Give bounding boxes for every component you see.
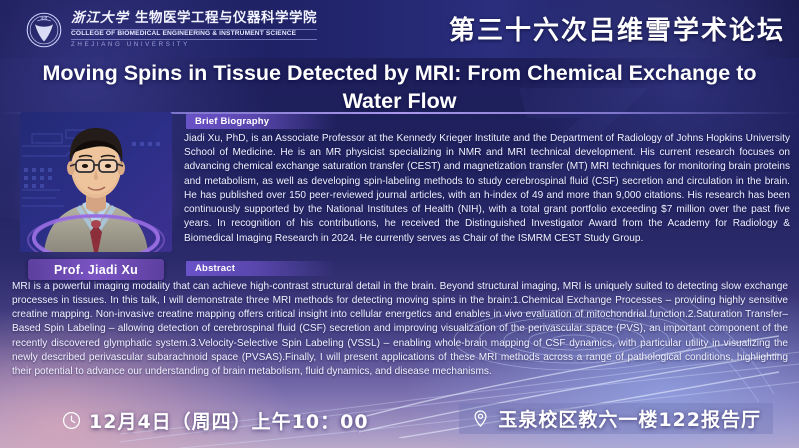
logo-college-cn: 生物医学工程与仪器科学学院	[135, 10, 317, 26]
forum-series-title: 第三十六次吕维雪学术论坛	[449, 10, 785, 47]
speaker-portrait-image	[20, 112, 172, 252]
event-datetime: 12月4日（周四）上午10：00	[89, 407, 369, 434]
logo-university-en: ZHEJIANG UNIVERSITY	[71, 42, 317, 48]
speaker-name-plate: Prof. Jiadi Xu	[28, 259, 164, 280]
speaker-photo-card: Prof. Jiadi Xu	[20, 112, 172, 280]
event-venue-block: 玉泉校区教六一楼122报告厅	[459, 403, 773, 434]
zju-seal-icon: 求是	[26, 12, 62, 48]
speaker-photo-frame	[20, 112, 172, 252]
location-pin-icon	[471, 409, 490, 428]
abstract-heading-label: Abstract	[195, 263, 235, 274]
biography-heading-label: Brief Biography	[195, 116, 269, 127]
speaker-name: Prof. Jiadi Xu	[54, 263, 138, 277]
logo-university-cn: 浙江大学	[71, 10, 129, 26]
biography-body: Jiadi Xu, PhD, is an Associate Professor…	[184, 132, 790, 246]
svg-text:求是: 求是	[40, 16, 48, 21]
talk-title: Moving Spins in Tissue Detected by MRI: …	[40, 60, 759, 115]
abstract-body: MRI is a powerful imaging modality that …	[12, 280, 788, 379]
seminar-poster: 求是 浙江大学生物医学工程与仪器科学学院 COLLEGE OF BIOMEDIC…	[0, 0, 799, 448]
logo-college-en: COLLEGE OF BIOMEDICAL ENGINEERING & INST…	[71, 29, 317, 41]
abstract-section-header: Abstract	[186, 261, 336, 276]
zju-logo-block: 求是 浙江大学生物医学工程与仪器科学学院 COLLEGE OF BIOMEDIC…	[26, 12, 317, 48]
clock-icon	[62, 411, 81, 430]
event-datetime-block: 12月4日（周四）上午10：00	[62, 407, 369, 434]
event-venue: 玉泉校区教六一楼122报告厅	[498, 405, 761, 432]
biography-section-header: Brief Biography	[186, 114, 336, 129]
